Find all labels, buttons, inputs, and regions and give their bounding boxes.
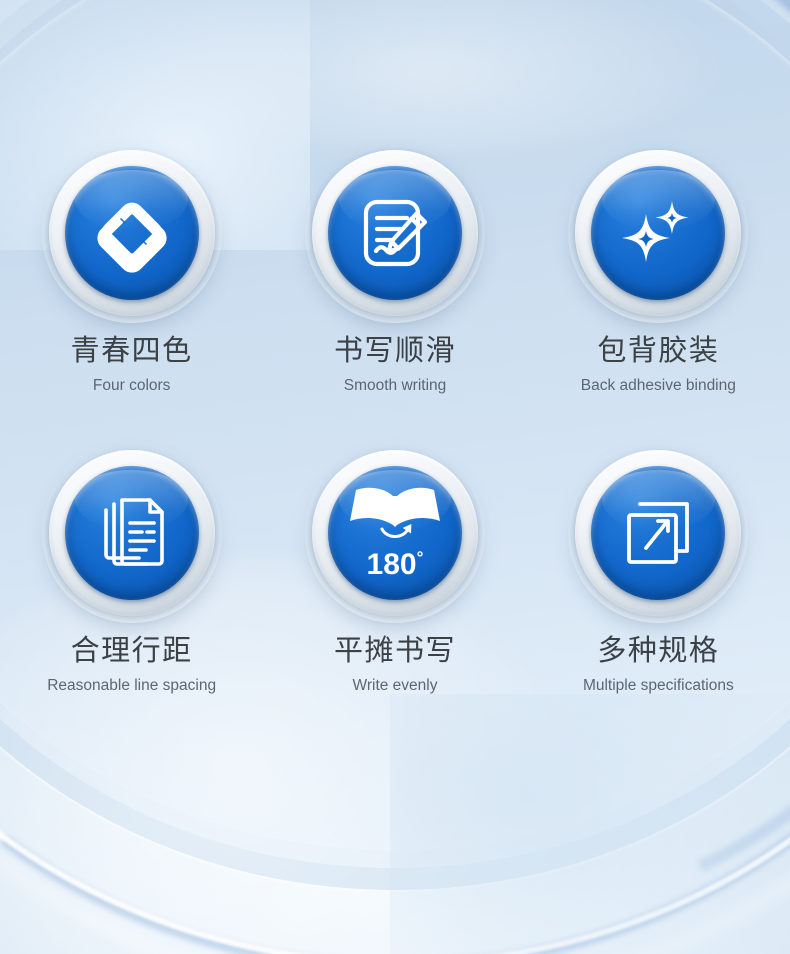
feature-title-cn: 书写顺滑 [334, 336, 456, 365]
features-grid: 青春四色 Four colors [0, 0, 790, 954]
angle-label: 180° [328, 550, 462, 580]
badge-back-adhesive-binding[interactable] [575, 150, 741, 316]
caption-smooth-writing: 书写顺滑 Smooth writing [334, 336, 456, 394]
feature-title-en: Smooth writing [334, 378, 456, 394]
feature-title-en: Back adhesive binding [581, 378, 736, 394]
feature-title-en: Four colors [71, 378, 193, 394]
badge-write-evenly[interactable]: 180° [312, 450, 478, 616]
note-pencil-icon [353, 191, 437, 275]
feature-grid-banner: 青春四色 Four colors [0, 0, 790, 954]
feature-title-cn: 多种规格 [583, 636, 734, 665]
badge-face [65, 466, 199, 600]
caption-back-adhesive-binding: 包背胶装 Back adhesive binding [581, 336, 736, 394]
badge-smooth-writing[interactable] [312, 150, 478, 316]
stacked-documents-icon [90, 491, 174, 575]
angle-unit: ° [417, 548, 424, 567]
badge-face [65, 166, 199, 300]
interlocking-diamond-icon [92, 193, 172, 273]
feature-title-en: Reasonable line spacing [47, 678, 216, 694]
caption-four-colors: 青春四色 Four colors [71, 336, 193, 394]
badge-multiple-specifications[interactable] [575, 450, 741, 616]
feature-item-write-evenly[interactable]: 180° 平摊书写 Write evenly [263, 450, 526, 750]
badge-face [328, 166, 462, 300]
feature-item-line-spacing[interactable]: 合理行距 Reasonable line spacing [0, 450, 263, 750]
sparkle-stars-icon [615, 190, 701, 276]
feature-item-multiple-specifications[interactable]: 多种规格 Multiple specifications [527, 450, 790, 750]
angle-value: 180 [367, 548, 417, 581]
badge-face: 180° [328, 466, 462, 600]
caption-multiple-specifications: 多种规格 Multiple specifications [583, 636, 734, 694]
feature-title-cn: 合理行距 [47, 636, 216, 665]
feature-title-en: Write evenly [334, 678, 456, 694]
caption-write-evenly: 平摊书写 Write evenly [334, 636, 456, 694]
layered-squares-icon [616, 491, 700, 575]
feature-item-back-adhesive-binding[interactable]: 包背胶装 Back adhesive binding [527, 150, 790, 450]
badge-line-spacing[interactable] [49, 450, 215, 616]
badge-face [591, 166, 725, 300]
caption-line-spacing: 合理行距 Reasonable line spacing [47, 636, 216, 694]
feature-title-en: Multiple specifications [583, 678, 734, 694]
open-book-180-icon [347, 483, 443, 547]
badge-four-colors[interactable] [49, 150, 215, 316]
badge-face [591, 466, 725, 600]
feature-item-four-colors[interactable]: 青春四色 Four colors [0, 150, 263, 450]
feature-title-cn: 包背胶装 [581, 336, 736, 365]
feature-title-cn: 青春四色 [71, 336, 193, 365]
feature-title-cn: 平摊书写 [334, 636, 456, 665]
feature-item-smooth-writing[interactable]: 书写顺滑 Smooth writing [263, 150, 526, 450]
